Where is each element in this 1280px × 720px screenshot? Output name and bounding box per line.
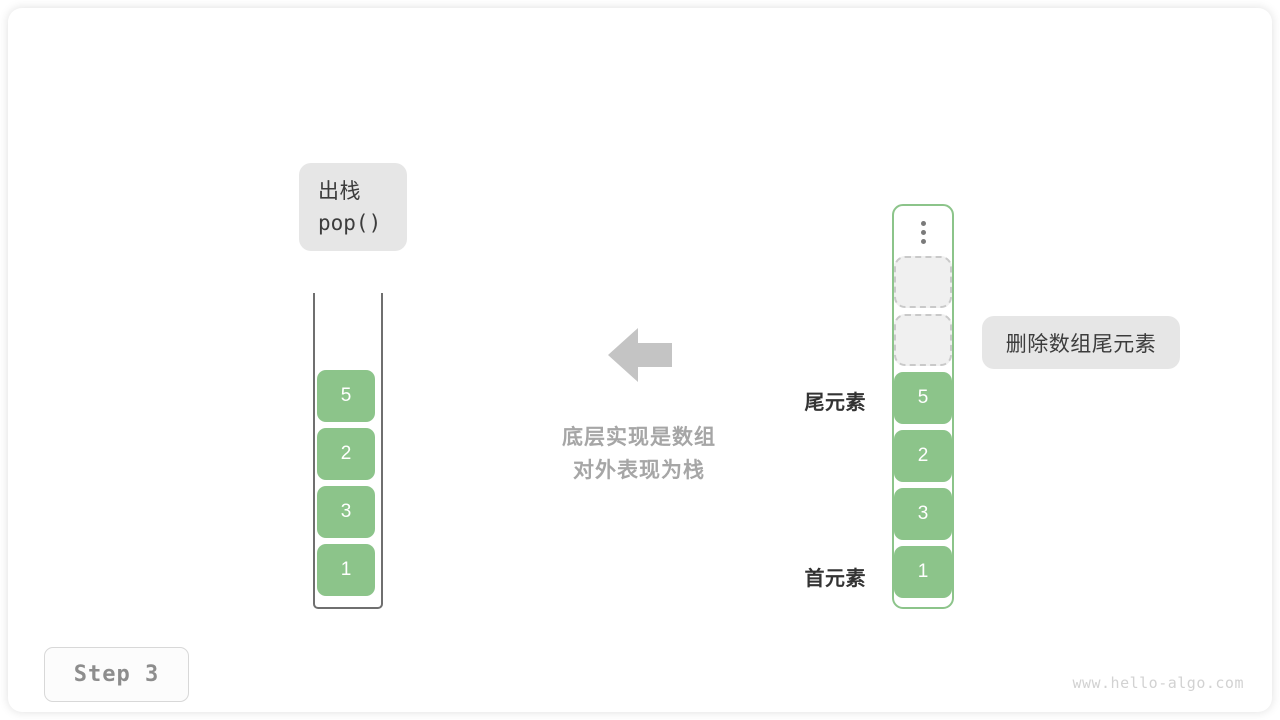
center-caption-line-1: 底层实现是数组	[499, 421, 779, 454]
array-cell: 2	[894, 430, 952, 482]
ellipsis-dot	[921, 239, 926, 244]
center-caption: 底层实现是数组 对外表现为栈	[499, 421, 779, 487]
ellipsis-dot	[921, 221, 926, 226]
stack-cell: 1	[317, 544, 375, 596]
array-cell: 1	[894, 546, 952, 598]
diagram-canvas: 出栈 pop() 5 2 3 1 底层实现是数组 对外表现为栈 尾元素 首元素 …	[8, 8, 1272, 712]
left-arrow-icon	[608, 326, 672, 384]
array-head-label: 首元素	[716, 562, 866, 591]
array-empty-slot	[894, 314, 952, 366]
array-cell: 5	[894, 372, 952, 424]
pop-callout-line-2: pop()	[318, 212, 381, 235]
stack-cell: 3	[317, 486, 375, 538]
stack-cell: 5	[317, 370, 375, 422]
step-badge: Step 3	[44, 647, 189, 702]
center-caption-line-2: 对外表现为栈	[499, 454, 779, 487]
array-tail-label: 尾元素	[716, 386, 866, 415]
vertical-ellipsis-icon	[892, 213, 954, 251]
array-items: 5 2 3 1	[894, 256, 952, 598]
delete-callout: 删除数组尾元素	[982, 316, 1180, 369]
array-empty-slot	[894, 256, 952, 308]
watermark: www.hello-algo.com	[1072, 674, 1244, 692]
ellipsis-dot	[921, 230, 926, 235]
pop-callout-line-1: 出栈	[318, 180, 361, 203]
stack-cell: 2	[317, 428, 375, 480]
stack-items: 5 2 3 1	[317, 370, 379, 596]
array-cell: 3	[894, 488, 952, 540]
pop-callout: 出栈 pop()	[299, 163, 407, 251]
